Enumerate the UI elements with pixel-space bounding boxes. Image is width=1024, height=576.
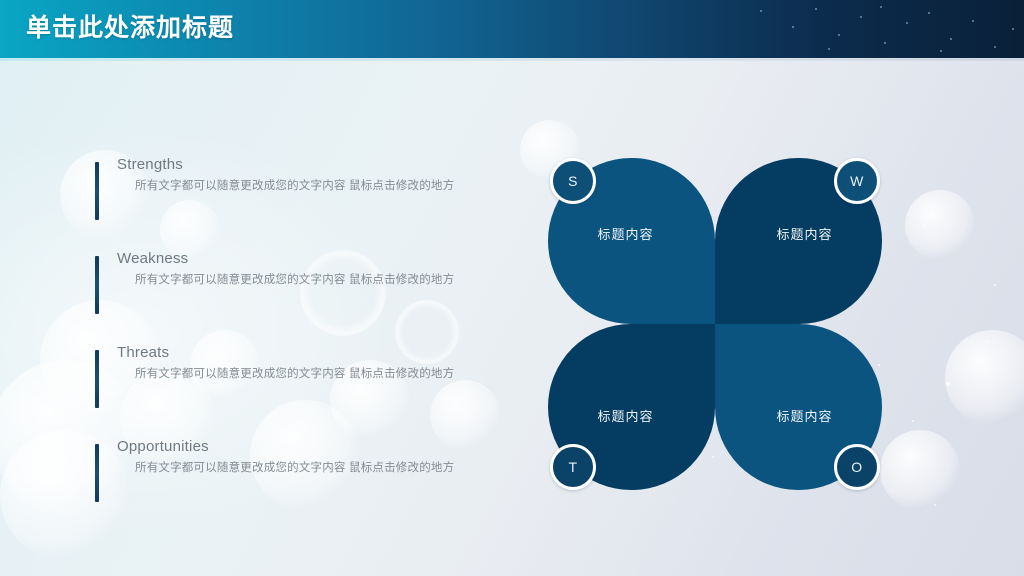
badge-strengths[interactable]: S xyxy=(550,158,596,204)
swot-item-description: 所有文字都可以随意更改成您的文字内容 鼠标点击修改的地方 xyxy=(135,364,515,384)
swot-item-title: Strengths xyxy=(117,154,515,176)
swot-item-description: 所有文字都可以随意更改成您的文字内容 鼠标点击修改的地方 xyxy=(135,176,515,196)
accent-bar xyxy=(95,256,99,314)
badge-threats[interactable]: T xyxy=(550,444,596,490)
bokeh-circle xyxy=(880,430,960,510)
swot-item-strengths[interactable]: Strengths 所有文字都可以随意更改成您的文字内容 鼠标点击修改的地方 xyxy=(95,154,515,244)
swot-text-list: Strengths 所有文字都可以随意更改成您的文字内容 鼠标点击修改的地方 W… xyxy=(95,150,515,526)
petal-label: 标题内容 xyxy=(776,406,832,425)
petal-label: 标题内容 xyxy=(597,224,653,243)
swot-item-title: Threats xyxy=(117,342,515,364)
page-title: 单击此处添加标题 xyxy=(26,12,234,44)
swot-item-description: 所有文字都可以随意更改成您的文字内容 鼠标点击修改的地方 xyxy=(135,270,515,290)
swot-item-description: 所有文字都可以随意更改成您的文字内容 鼠标点击修改的地方 xyxy=(135,458,515,478)
swot-item-opportunities[interactable]: Opportunities 所有文字都可以随意更改成您的文字内容 鼠标点击修改的… xyxy=(95,436,515,526)
accent-bar xyxy=(95,162,99,220)
accent-bar xyxy=(95,444,99,502)
swot-item-title: Opportunities xyxy=(117,436,515,458)
bokeh-circle xyxy=(905,190,975,260)
badge-weakness[interactable]: W xyxy=(834,158,880,204)
swot-item-threats[interactable]: Threats 所有文字都可以随意更改成您的文字内容 鼠标点击修改的地方 xyxy=(95,342,515,432)
header-underline xyxy=(0,58,1024,61)
slide-header-band: 单击此处添加标题 xyxy=(0,0,1024,58)
swot-petal-diagram: 标题内容 标题内容 标题内容 标题内容 S W T O xyxy=(548,158,882,490)
swot-item-weakness[interactable]: Weakness 所有文字都可以随意更改成您的文字内容 鼠标点击修改的地方 xyxy=(95,248,515,338)
bokeh-circle xyxy=(945,330,1024,425)
petal-label: 标题内容 xyxy=(597,406,653,425)
accent-bar xyxy=(95,350,99,408)
slide-canvas: 单击此处添加标题 Strengths 所有文字都可以随意更改成您的文字内容 鼠标… xyxy=(0,0,1024,576)
swot-item-title: Weakness xyxy=(117,248,515,270)
petal-label: 标题内容 xyxy=(776,224,832,243)
badge-opportunities[interactable]: O xyxy=(834,444,880,490)
